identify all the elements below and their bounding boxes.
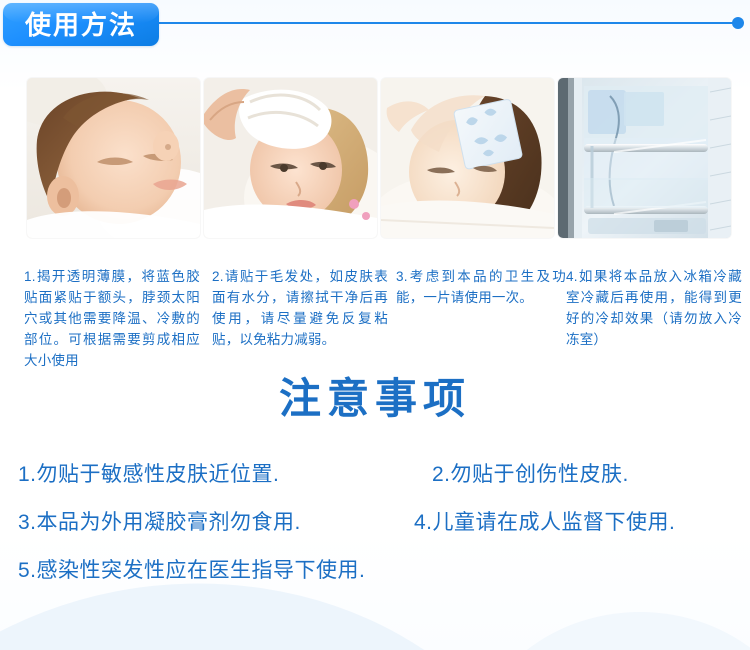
step-caption-3: 3.考虑到本品的卫生及功能，一片请使用一次。 bbox=[396, 266, 566, 308]
section-title-badge: 使用方法 bbox=[3, 3, 159, 46]
photo-strip bbox=[0, 78, 750, 238]
notice-item-1: 1.勿贴于敏感性皮肤近位置. bbox=[18, 464, 279, 485]
cooling-patch-on-forehead-photo bbox=[381, 78, 554, 238]
header-end-dot-icon bbox=[732, 17, 744, 29]
step-caption-4: 4.如果将本品放入冰箱冷藏室冷藏后再使用，能得到更好的冷却效果（请勿放入冷冻室） bbox=[566, 266, 742, 350]
header-rule bbox=[150, 22, 733, 24]
product-instruction-page: 使用方法 bbox=[0, 0, 750, 650]
step-caption-1: 1.揭开透明薄膜，将蓝色胶贴面紧贴于额头，脖颈太阳穴或其他需要降温、冷敷的部位。… bbox=[24, 266, 200, 371]
step-caption-2: 2.请贴于毛发处，如皮肤表面有水分，请擦拭干净后再使用，请尽量避免反复粘贴，以免… bbox=[212, 266, 388, 350]
background-swoosh-right bbox=[470, 612, 750, 650]
notice-heading: 注意事项 bbox=[0, 378, 750, 420]
section-title-label: 使用方法 bbox=[3, 3, 159, 46]
notice-item-2: 2.勿贴于创伤性皮肤. bbox=[432, 464, 629, 485]
notice-item-4: 4.儿童请在成人监督下使用. bbox=[414, 512, 675, 533]
towel-on-forehead-photo bbox=[204, 78, 377, 238]
refrigerator-shelves-photo bbox=[558, 78, 731, 238]
sleeping-baby-photo bbox=[27, 78, 200, 238]
notice-item-5: 5.感染性突发性应在医生指导下使用. bbox=[18, 560, 365, 581]
notice-list: 1.勿贴于敏感性皮肤近位置. 2.勿贴于创伤性皮肤. 3.本品为外用凝胶膏剂勿食… bbox=[0, 458, 750, 598]
section-header: 使用方法 bbox=[0, 0, 750, 52]
notice-item-3: 3.本品为外用凝胶膏剂勿食用. bbox=[18, 512, 301, 533]
